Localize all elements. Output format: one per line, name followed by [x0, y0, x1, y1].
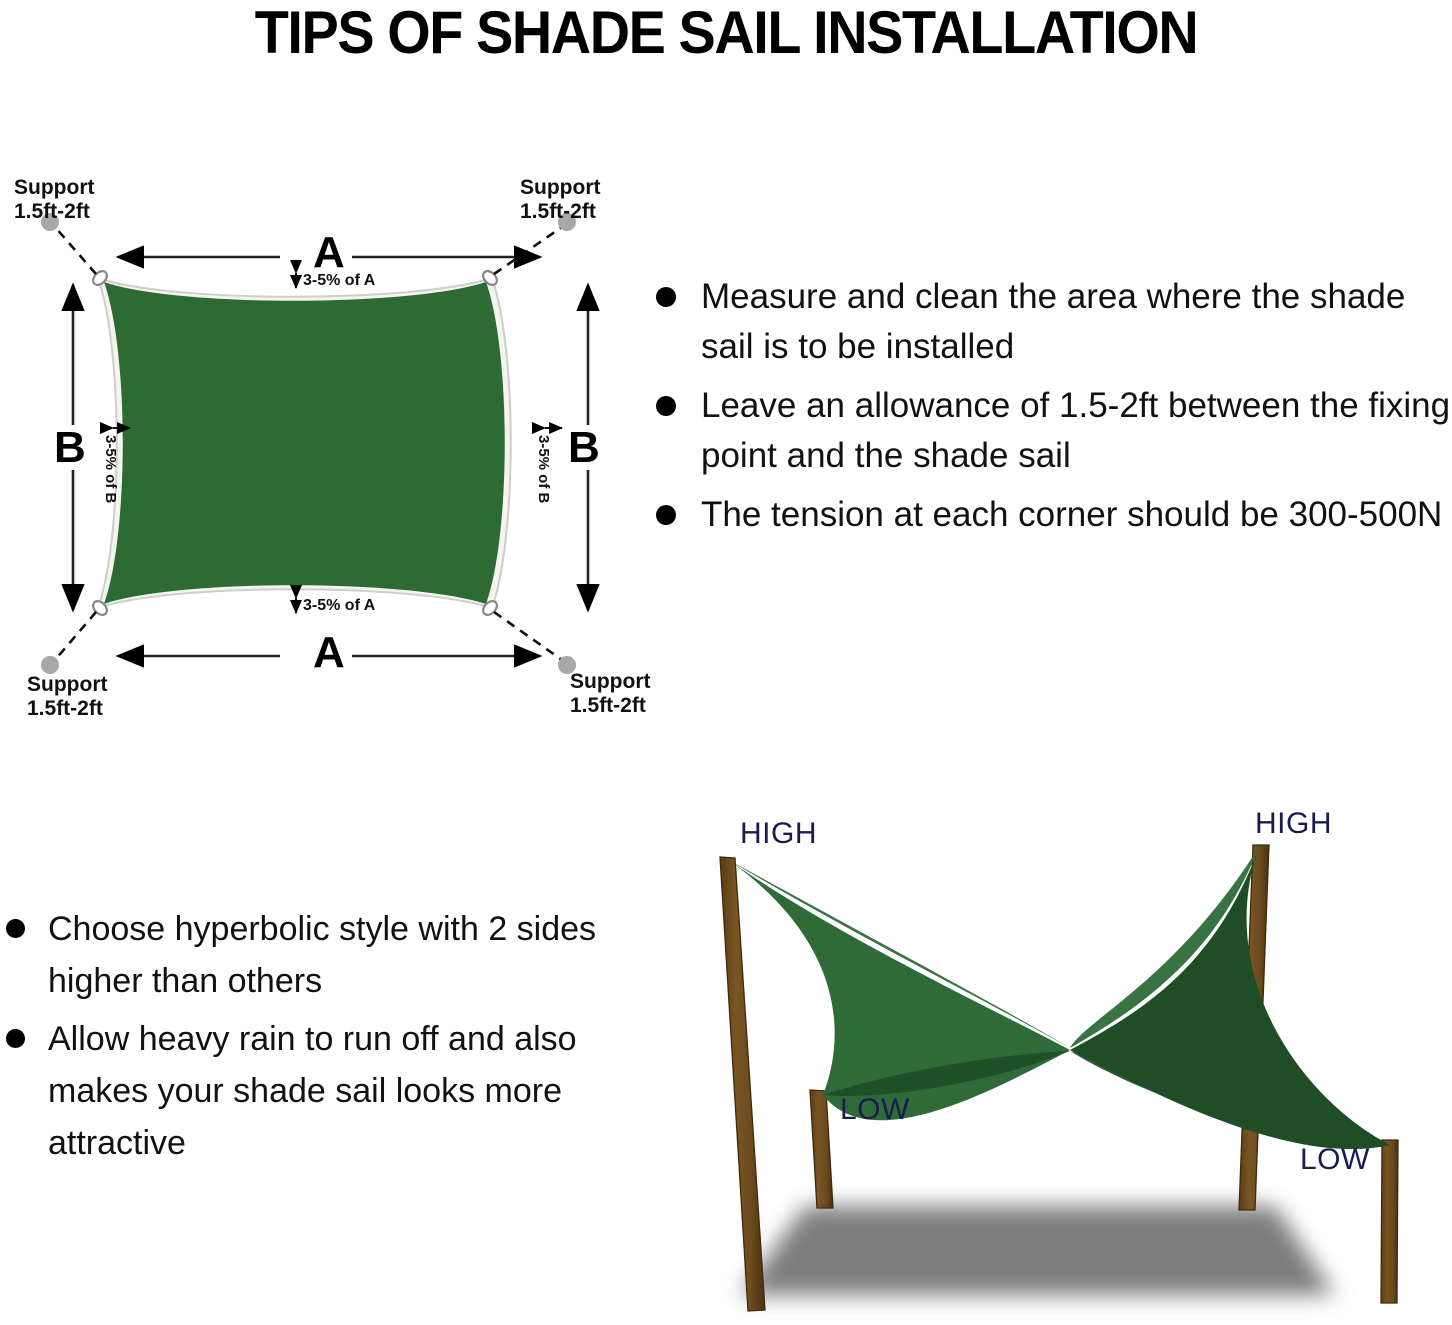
- support-label-line1: Support: [14, 176, 94, 199]
- list-item-text: Measure and clean the area where the sha…: [701, 277, 1405, 366]
- support-label-bottom-right: Support 1.5ft-2ft: [570, 670, 650, 717]
- curve-label-bottom: 3-5% of A: [303, 597, 375, 615]
- corner-label-low-right: LOW: [1300, 1143, 1370, 1177]
- curve-label-top: 3-5% of A: [303, 272, 375, 290]
- support-line-bottom-right: [494, 612, 562, 660]
- bullet-dot-icon: [6, 919, 25, 938]
- support-label-line2: 1.5ft-2ft: [520, 200, 596, 223]
- pole-low-right: [1381, 1140, 1398, 1303]
- support-label-line1: Support: [570, 670, 650, 693]
- curve-label-right: 3-5% of B: [534, 435, 551, 503]
- bullet-dot-icon: [656, 505, 676, 525]
- support-label-top-right: Support 1.5ft-2ft: [520, 176, 600, 223]
- ground-shadow: [740, 1206, 1335, 1295]
- list-item-text: Leave an allowance of 1.5-2ft between th…: [701, 386, 1450, 475]
- rectangular-sail-diagram: Support 1.5ft-2ft Support 1.5ft-2ft Supp…: [0, 170, 660, 740]
- list-item: Measure and clean the area where the sha…: [648, 272, 1452, 372]
- list-item: Choose hyperbolic style with 2 sides hig…: [0, 903, 625, 1007]
- corner-label-low-left: LOW: [840, 1093, 910, 1127]
- dimension-letter-bottom-a: A: [313, 628, 345, 677]
- support-line-top-right: [494, 227, 562, 274]
- dimension-letter-top-a: A: [313, 228, 345, 277]
- hyperbolic-sail-diagram: HIGH HIGH LOW LOW: [655, 795, 1452, 1325]
- list-item: The tension at each corner should be 300…: [648, 490, 1452, 540]
- support-label-line1: Support: [27, 673, 107, 696]
- support-label-top-left: Support 1.5ft-2ft: [14, 176, 94, 223]
- installation-tips-list: Measure and clean the area where the sha…: [648, 272, 1452, 549]
- corner-label-high-left: HIGH: [740, 817, 817, 851]
- dimension-letter-right-b: B: [568, 423, 600, 472]
- support-label-line2: 1.5ft-2ft: [27, 697, 103, 720]
- hyperbolic-sail-svg: [655, 795, 1452, 1325]
- sail-fabric: [104, 282, 505, 604]
- bullet-dot-icon: [6, 1029, 25, 1048]
- list-item: Leave an allowance of 1.5-2ft between th…: [648, 381, 1452, 481]
- support-label-line1: Support: [520, 176, 600, 199]
- support-dot-bottom-left: [41, 656, 59, 674]
- list-item-text: The tension at each corner should be 300…: [701, 495, 1442, 534]
- list-item-text: Allow heavy rain to run off and also mak…: [48, 1020, 577, 1162]
- page-title: TIPS OF SHADE SAIL INSTALLATION: [51, 2, 1401, 64]
- support-label-line2: 1.5ft-2ft: [570, 694, 646, 717]
- pole-low-left: [810, 1090, 833, 1208]
- bullet-dot-icon: [656, 396, 676, 416]
- bullet-dot-icon: [656, 287, 676, 307]
- infographic-page: TIPS OF SHADE SAIL INSTALLATION: [0, 0, 1452, 1325]
- support-label-line2: 1.5ft-2ft: [14, 200, 90, 223]
- list-item: Allow heavy rain to run off and also mak…: [0, 1013, 625, 1169]
- support-line-top-left: [55, 227, 96, 274]
- pole-high-left: [720, 857, 765, 1311]
- hyperbolic-tips-list: Choose hyperbolic style with 2 sides hig…: [0, 903, 625, 1175]
- corner-label-high-right: HIGH: [1255, 807, 1332, 841]
- curve-label-left: 3-5% of B: [101, 435, 118, 503]
- support-label-bottom-left: Support 1.5ft-2ft: [27, 673, 107, 720]
- support-line-bottom-left: [55, 612, 96, 660]
- dimension-letter-left-b: B: [54, 423, 86, 472]
- list-item-text: Choose hyperbolic style with 2 sides hig…: [48, 910, 596, 1000]
